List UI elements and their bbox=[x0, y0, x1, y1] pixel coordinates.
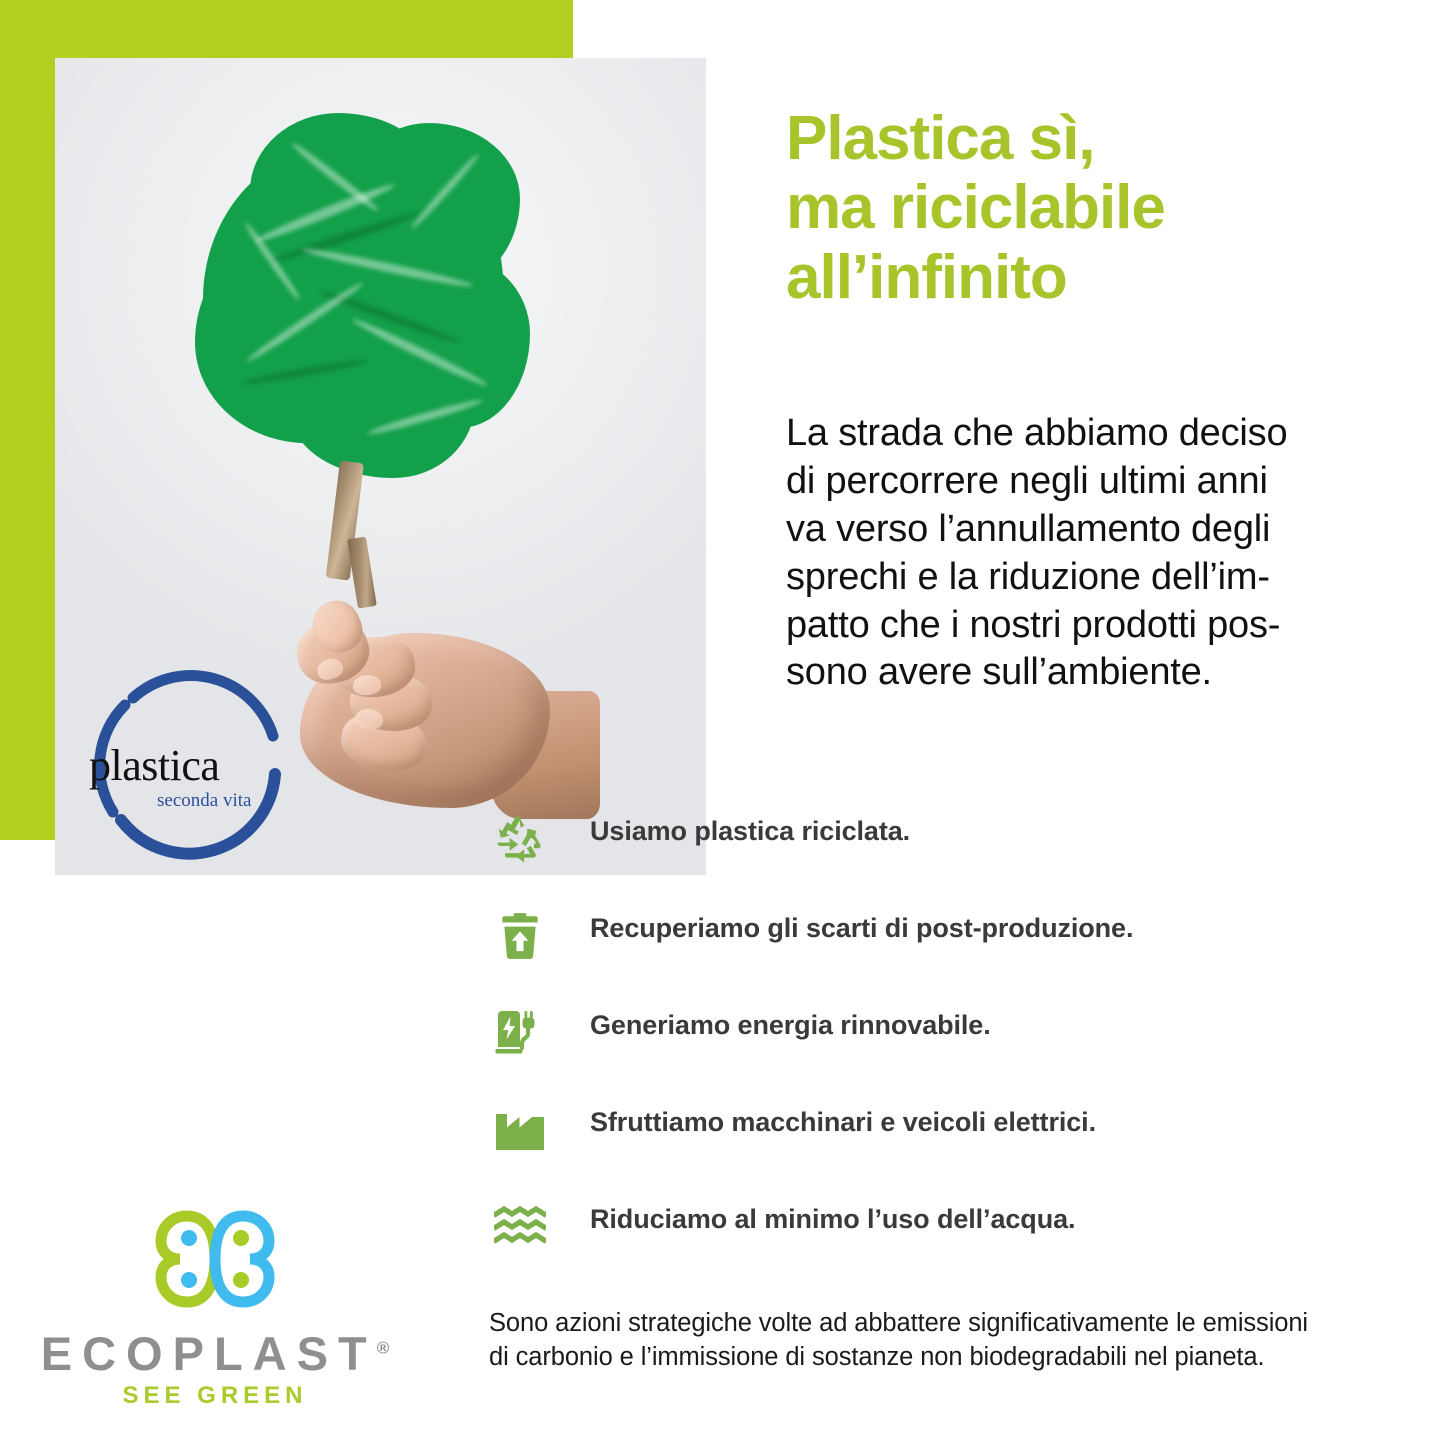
plastica-seconda-vita-logo: plastica seconda vita bbox=[77, 662, 317, 875]
recycle-icon bbox=[489, 808, 551, 870]
footer-note: Sono azioni strategiche volte ad abbatte… bbox=[489, 1307, 1419, 1374]
footer-line-2: di carbonio e l’immissione di sostanze n… bbox=[489, 1341, 1419, 1375]
water-waves-icon bbox=[489, 1196, 551, 1258]
tree-canopy-plastic bbox=[195, 113, 525, 483]
hero-photo: plastica seconda vita bbox=[55, 58, 706, 875]
body-line-2: di percorrere negli ultimi anni bbox=[786, 458, 1386, 506]
headline-line-1: Plastica sì, bbox=[786, 104, 1426, 173]
page-title: Plastica sì, ma riciclabile all’infinito bbox=[786, 104, 1426, 312]
headline-line-3: all’infinito bbox=[786, 243, 1426, 312]
intro-paragraph: La strada che abbiamo deciso di percorre… bbox=[786, 410, 1386, 697]
list-item: Generiamo energia rinnovabile. bbox=[489, 1002, 1419, 1099]
actions-list: Usiamo plastica riciclata. Recuperiamo g… bbox=[489, 808, 1419, 1293]
body-line-6: sono avere sull’ambiente. bbox=[786, 649, 1386, 697]
ecoplast-logo: ECOPLAST® SEE GREEN bbox=[30, 1200, 400, 1425]
list-item-label: Riduciamo al minimo l’uso dell’acqua. bbox=[590, 1204, 1075, 1235]
list-item-label: Sfruttiamo macchinari e veicoli elettric… bbox=[590, 1107, 1096, 1138]
ecoplast-wordmark: ECOPLAST® bbox=[30, 1326, 400, 1381]
list-item: Recuperiamo gli scarti di post-produzion… bbox=[489, 905, 1419, 1002]
body-line-1: La strada che abbiamo deciso bbox=[786, 410, 1386, 458]
list-item: Usiamo plastica riciclata. bbox=[489, 808, 1419, 905]
body-line-5: patto che i nostri prodotti pos- bbox=[786, 602, 1386, 650]
body-line-3: va verso l’annullamento degli bbox=[786, 506, 1386, 554]
registered-trademark-icon: ® bbox=[377, 1338, 390, 1357]
body-line-4: sprechi e la riduzione dell’im- bbox=[786, 554, 1386, 602]
ecoplast-wordmark-text: ECOPLAST bbox=[41, 1327, 377, 1380]
plastica-logo-subtitle: seconda vita bbox=[157, 790, 251, 812]
plastica-logo-text: plastica bbox=[89, 740, 309, 791]
ecoplast-butterfly-icon bbox=[135, 1200, 295, 1318]
list-item-label: Recuperiamo gli scarti di post-produzion… bbox=[590, 913, 1133, 944]
list-item: Riduciamo al minimo l’uso dell’acqua. bbox=[489, 1196, 1419, 1293]
list-item: Sfruttiamo macchinari e veicoli elettric… bbox=[489, 1099, 1419, 1196]
ecoplast-tagline: SEE GREEN bbox=[30, 1382, 400, 1410]
list-item-label: Usiamo plastica riciclata. bbox=[590, 816, 910, 847]
ev-charger-icon bbox=[489, 1002, 551, 1064]
factory-icon bbox=[489, 1099, 551, 1161]
trash-up-arrow-icon bbox=[489, 905, 551, 967]
list-item-label: Generiamo energia rinnovabile. bbox=[590, 1010, 991, 1041]
poster-canvas: plastica seconda vita Plastica sì, ma ri… bbox=[0, 0, 1445, 1445]
headline-line-2: ma riciclabile bbox=[786, 173, 1426, 242]
footer-line-1: Sono azioni strategiche volte ad abbatte… bbox=[489, 1307, 1419, 1341]
